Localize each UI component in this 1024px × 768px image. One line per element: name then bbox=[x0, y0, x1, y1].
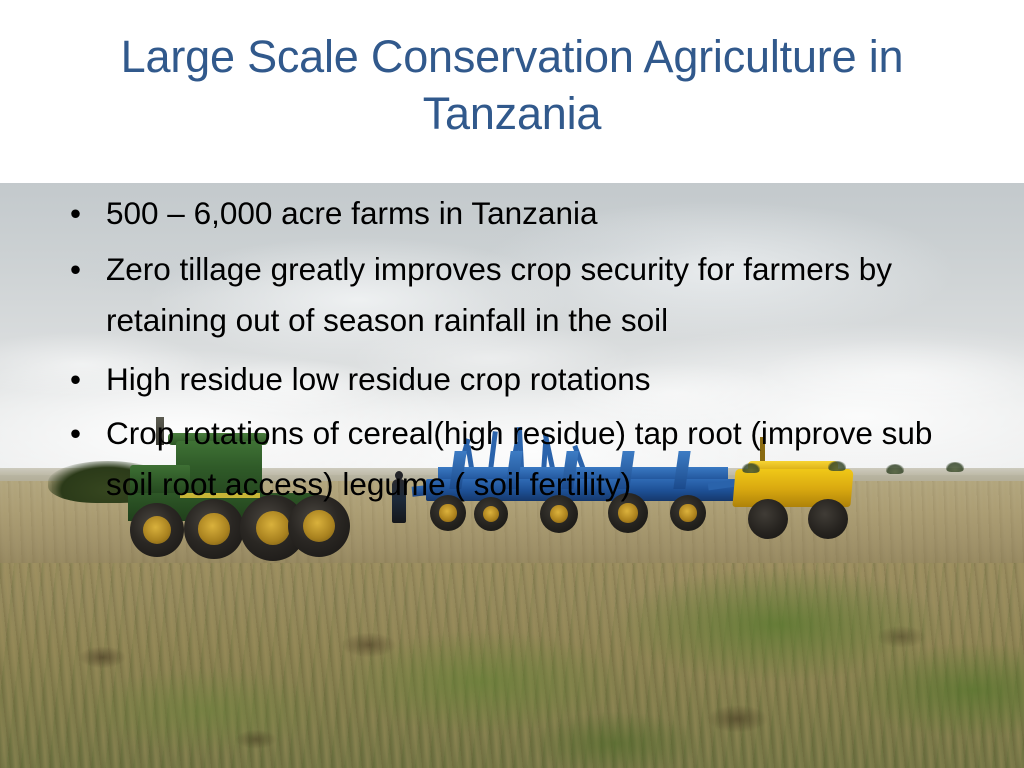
wheel-rim bbox=[198, 513, 229, 544]
bullet-item: • Crop rotations of cereal(high residue)… bbox=[56, 408, 982, 510]
bullet-text: High residue low residue crop rotations bbox=[106, 354, 982, 405]
grass-tufts-texture bbox=[0, 563, 1024, 768]
wheel-rim bbox=[303, 510, 335, 542]
wheel-rim bbox=[256, 511, 290, 545]
wheel-rim bbox=[143, 516, 171, 544]
slide-body-content: • 500 – 6,000 acre farms in Tanzania • Z… bbox=[56, 183, 982, 512]
bullet-text: Crop rotations of cereal(high residue) t… bbox=[106, 408, 982, 510]
bullet-dot-icon: • bbox=[70, 354, 81, 405]
bullet-item: • Zero tillage greatly improves crop sec… bbox=[56, 244, 982, 346]
title-band: Large Scale Conservation Agriculture in … bbox=[0, 0, 1024, 183]
bullet-text: Zero tillage greatly improves crop secur… bbox=[106, 244, 982, 346]
bullet-dot-icon: • bbox=[70, 408, 81, 459]
bullet-text: 500 – 6,000 acre farms in Tanzania bbox=[106, 188, 982, 239]
presentation-slide: Large Scale Conservation Agriculture in … bbox=[0, 0, 1024, 768]
bullet-dot-icon: • bbox=[70, 188, 81, 239]
bullet-item: • 500 – 6,000 acre farms in Tanzania bbox=[56, 188, 982, 239]
bullet-dot-icon: • bbox=[70, 244, 81, 295]
bullet-item: • High residue low residue crop rotation… bbox=[56, 354, 982, 405]
page-title: Large Scale Conservation Agriculture in … bbox=[40, 28, 984, 142]
